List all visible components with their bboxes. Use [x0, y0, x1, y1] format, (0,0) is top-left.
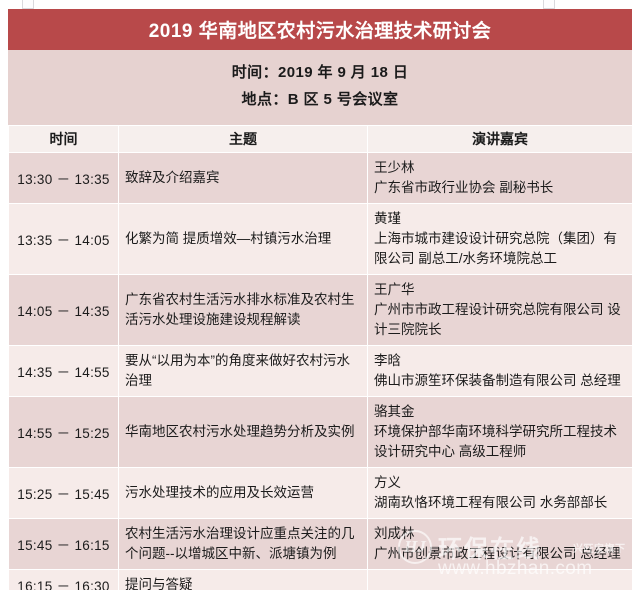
cell-topic: 要从“以用为本”的角度来做好农村污水治理 [119, 346, 368, 397]
guest-name: 王广华 [374, 280, 626, 300]
cell-time: 16:15 － 16:30 [9, 570, 119, 590]
cell-time: 15:45 － 16:15 [9, 519, 119, 570]
table-row: 16:15 － 16:30提问与答疑 [9, 570, 633, 590]
cell-time: 14:35 － 14:55 [9, 346, 119, 397]
cell-guest: 王少林广东省市政行业协会 副秘书长 [368, 153, 633, 204]
cell-topic: 广东省农村生活污水排水标准及农村生活污水处理设施建设规程解读 [119, 275, 368, 346]
cell-time: 13:30 － 13:35 [9, 153, 119, 204]
event-title: 2019 华南地区农村污水治理技术研讨会 [149, 16, 492, 43]
cell-guest: 刘成林广州市创景市政工程设计有限公司 总经理 [368, 519, 633, 570]
table-row: 14:05 － 14:35广东省农村生活污水排水标准及农村生活污水处理设施建设规… [9, 275, 633, 346]
guest-name: 骆其金 [374, 402, 626, 422]
table-row: 13:35 － 14:05化繁为简 提质增效—村镇污水治理黄瑾上海市城市建设设计… [9, 204, 633, 275]
event-place-line: 地点：B 区 5 号会议室 [8, 86, 632, 113]
cell-topic: 化繁为简 提质增效—村镇污水治理 [119, 204, 368, 275]
table-row: 15:45 － 16:15农村生活污水治理设计应重点关注的几个问题--以增城区中… [9, 519, 633, 570]
event-time-line: 时间：2019 年 9 月 18 日 [8, 59, 632, 86]
column-header-time: 时间 [9, 126, 119, 153]
table-row: 15:25 － 15:45污水处理技术的应用及长效运营方义湖南玖恪环境工程有限公… [9, 468, 633, 519]
cell-time: 14:05 － 14:35 [9, 275, 119, 346]
event-meta-band: 时间：2019 年 9 月 18 日 地点：B 区 5 号会议室 [8, 50, 632, 125]
table-row: 14:55 － 15:25华南地区农村污水处理趋势分析及实例骆其金环境保护部华南… [9, 397, 633, 468]
cell-guest: 王广华广州市市政工程设计研究总院有限公司 设计三院院长 [368, 275, 633, 346]
cell-topic: 农村生活污水治理设计应重点关注的几个问题--以增城区中新、派塘镇为例 [119, 519, 368, 570]
cell-guest: 骆其金环境保护部华南环境科学研究所工程技术设计研究中心 高级工程师 [368, 397, 633, 468]
guest-organization: 广州市市政工程设计研究总院有限公司 设计三院院长 [374, 300, 626, 340]
guest-name: 刘成林 [374, 524, 626, 544]
agenda-document: 2019 华南地区农村污水治理技术研讨会 时间：2019 年 9 月 18 日 … [8, 9, 632, 590]
column-header-topic: 主题 [119, 126, 368, 153]
cell-topic: 提问与答疑 [119, 570, 368, 590]
table-row: 14:35 － 14:55要从“以用为本”的角度来做好农村污水治理李晗佛山市源笙… [9, 346, 633, 397]
cell-guest [368, 570, 633, 590]
agenda-page: 2019 华南地区农村污水治理技术研讨会 时间：2019 年 9 月 18 日 … [0, 0, 640, 590]
guest-name: 王少林 [374, 158, 626, 178]
table-row: 13:30 － 13:35致辞及介绍嘉宾王少林广东省市政行业协会 副秘书长 [9, 153, 633, 204]
cell-guest: 李晗佛山市源笙环保装备制造有限公司 总经理 [368, 346, 633, 397]
cell-topic: 致辞及介绍嘉宾 [119, 153, 368, 204]
agenda-table: 时间 主题 演讲嘉宾 13:30 － 13:35致辞及介绍嘉宾王少林广东省市政行… [8, 125, 633, 590]
agenda-table-head: 时间 主题 演讲嘉宾 [9, 126, 633, 153]
guest-name: 黄瑾 [374, 209, 626, 229]
page-crop-mark-right [543, 0, 555, 9]
guest-organization: 上海市城市建设设计研究总院（集团）有限公司 副总工/水务环境院总工 [374, 229, 626, 269]
page-crop-mark-left [22, 0, 34, 9]
table-header-row: 时间 主题 演讲嘉宾 [9, 126, 633, 153]
guest-organization: 湖南玖恪环境工程有限公司 水务部部长 [374, 493, 626, 513]
cell-time: 15:25 － 15:45 [9, 468, 119, 519]
column-header-guest: 演讲嘉宾 [368, 126, 633, 153]
guest-organization: 广州市创景市政工程设计有限公司 总经理 [374, 544, 626, 564]
guest-name: 方义 [374, 473, 626, 493]
guest-organization: 广东省市政行业协会 副秘书长 [374, 178, 626, 198]
cell-guest: 黄瑾上海市城市建设设计研究总院（集团）有限公司 副总工/水务环境院总工 [368, 204, 633, 275]
guest-name: 李晗 [374, 351, 626, 371]
cell-topic: 污水处理技术的应用及长效运营 [119, 468, 368, 519]
guest-organization: 佛山市源笙环保装备制造有限公司 总经理 [374, 371, 626, 391]
event-banner: 2019 华南地区农村污水治理技术研讨会 [8, 9, 632, 50]
cell-topic: 华南地区农村污水处理趋势分析及实例 [119, 397, 368, 468]
cell-time: 14:55 － 15:25 [9, 397, 119, 468]
cell-guest: 方义湖南玖恪环境工程有限公司 水务部部长 [368, 468, 633, 519]
cell-time: 13:35 － 14:05 [9, 204, 119, 275]
agenda-table-body: 13:30 － 13:35致辞及介绍嘉宾王少林广东省市政行业协会 副秘书长13:… [9, 153, 633, 590]
guest-organization: 环境保护部华南环境科学研究所工程技术设计研究中心 高级工程师 [374, 422, 626, 462]
